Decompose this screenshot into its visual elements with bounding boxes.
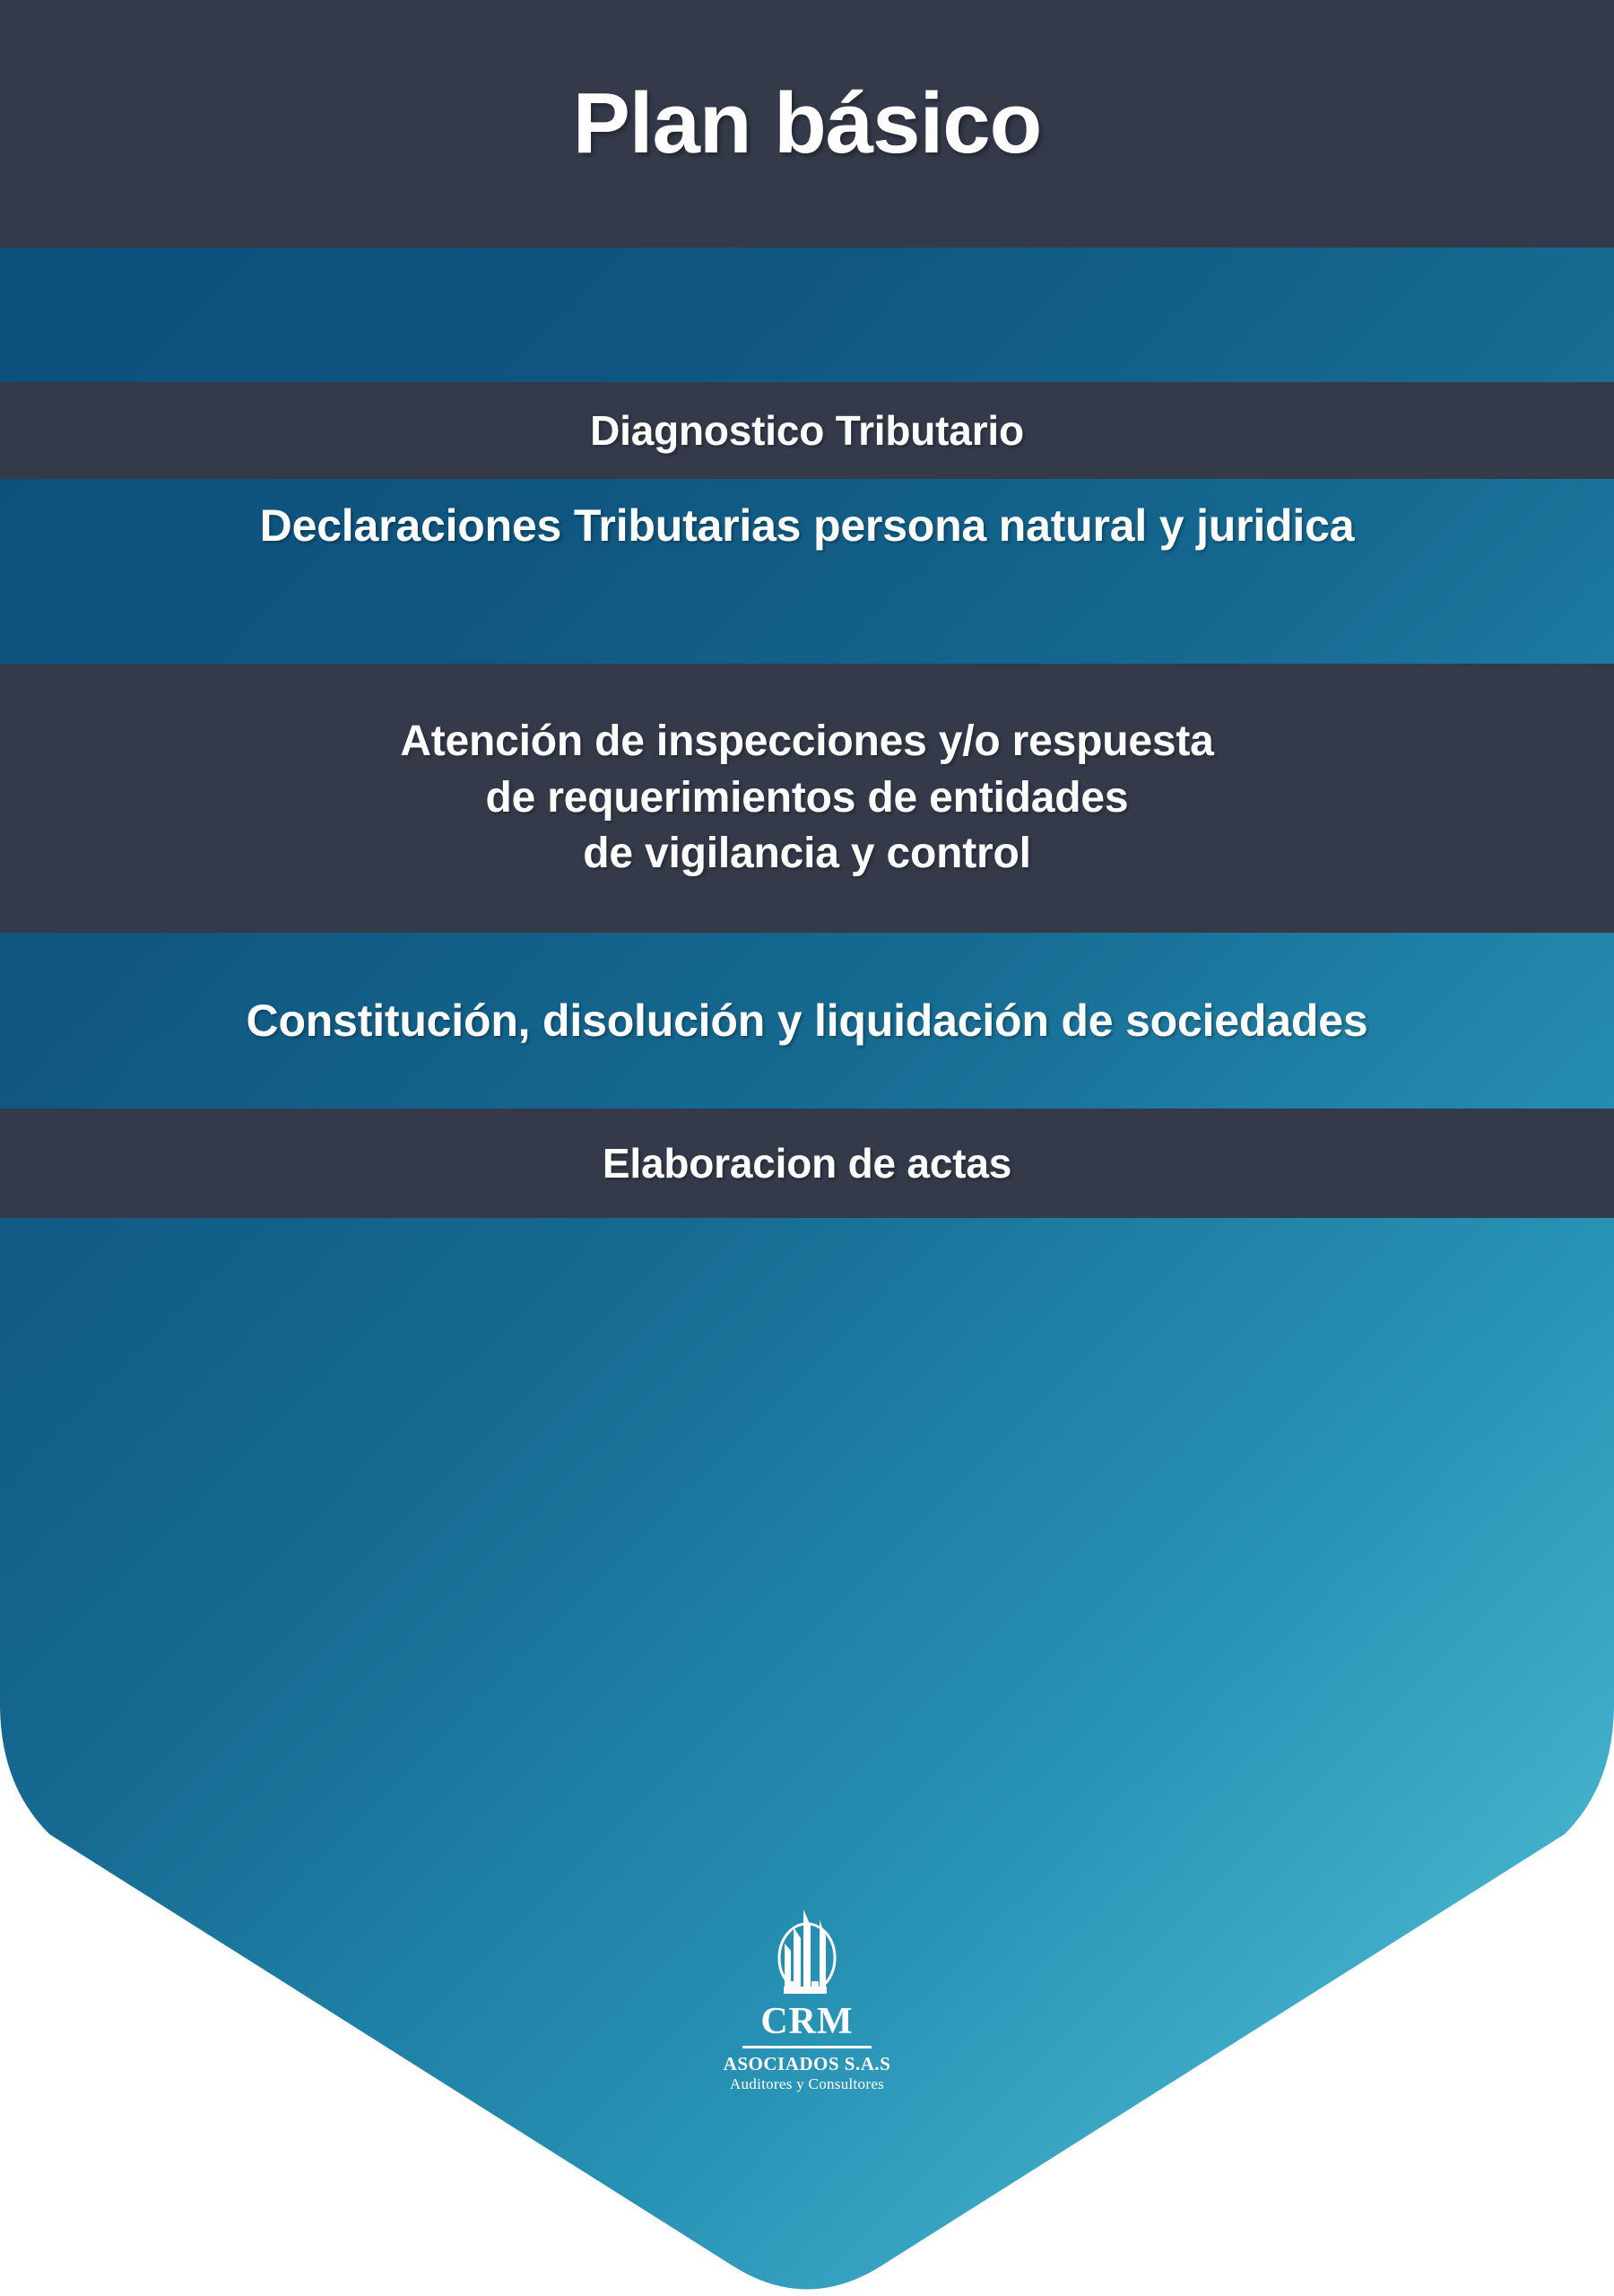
logo-name: CRM: [664, 2003, 950, 2040]
feature-row-elaboracion-actas: Elaboracion de actas: [0, 1109, 1614, 1218]
feature-row-label: Diagnostico Tributario: [590, 406, 1024, 455]
feature-row-atencion-inspecciones: Atención de inspecciones y/o respuesta d…: [0, 664, 1614, 933]
feature-row-spacer-middle: [0, 572, 1614, 664]
feature-row-label: Declaraciones Tributarias persona natura…: [260, 500, 1355, 552]
crm-logo: CRM ASOCIADOS S.A.S Auditores y Consulto…: [664, 1906, 950, 2093]
feature-row-label: Elaboracion de actas: [603, 1139, 1011, 1187]
feature-row-constitucion-sociedades: Constitución, disolución y liquidación d…: [0, 933, 1614, 1109]
feature-row-declaraciones-tributarias: Declaraciones Tributarias persona natura…: [0, 479, 1614, 572]
poster-header: Plan básico: [0, 0, 1614, 248]
building-skyscraper-icon: [764, 1906, 850, 1999]
feature-row-label: Atención de inspecciones y/o respuesta d…: [400, 714, 1213, 882]
page-title: Plan básico: [573, 74, 1042, 173]
logo-subtitle: ASOCIADOS S.A.S: [664, 2054, 950, 2074]
feature-row-diagnostico-tributario: Diagnostico Tributario: [0, 382, 1614, 479]
feature-row-spacer-top: [0, 248, 1614, 382]
feature-row-label: Constitución, disolución y liquidación d…: [247, 995, 1368, 1048]
plan-basico-poster: Plan básico Diagnostico Tributario Decla…: [0, 0, 1614, 2296]
logo-divider: [742, 2046, 872, 2048]
logo-tagline: Auditores y Consultores: [664, 2075, 950, 2093]
